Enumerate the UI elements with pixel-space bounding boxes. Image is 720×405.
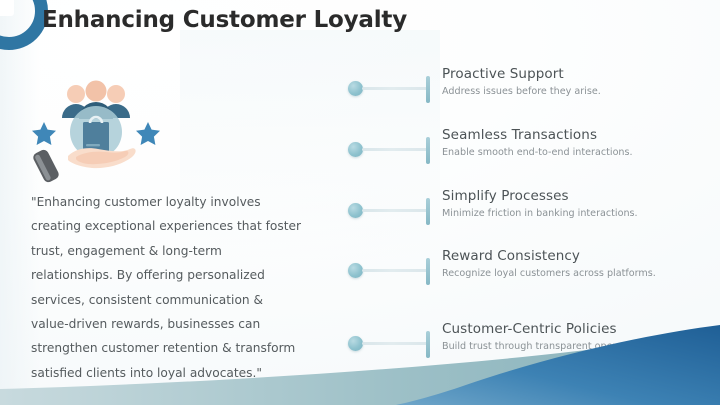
bullet-dot-icon [348, 203, 363, 218]
hand-icon [68, 148, 136, 168]
connector-graphic [345, 259, 435, 289]
loyalty-illustration [26, 78, 166, 183]
sleeve-cuff [32, 148, 61, 183]
list-item-reward-consistency[interactable]: Reward Consistency Recognize loyal custo… [345, 259, 720, 315]
list-item-title: Seamless Transactions [442, 126, 720, 144]
connector-bar [426, 137, 430, 164]
connector-graphic [345, 77, 435, 107]
list-item-desc: Minimize friction in banking interaction… [442, 206, 720, 221]
list-item-text: Simplify Processes Minimize friction in … [442, 187, 720, 221]
loyalty-illustration-svg [26, 78, 166, 183]
list-item-text: Reward Consistency Recognize loyal custo… [442, 247, 720, 281]
list-item-desc: Recognize loyal customers across platfor… [442, 266, 720, 281]
bullet-dot-icon [348, 81, 363, 96]
list-item-text: Seamless Transactions Enable smooth end-… [442, 126, 720, 160]
connector-line [362, 87, 428, 90]
list-item-desc: Enable smooth end-to-end interactions. [442, 145, 720, 160]
corner-arc-mask [0, 0, 14, 16]
bottom-wave-decoration [0, 325, 720, 405]
connector-graphic [345, 138, 435, 168]
connector-line [362, 269, 428, 272]
connector-bar [426, 258, 430, 285]
connector-graphic [345, 199, 435, 229]
connector-bar [426, 76, 430, 103]
bullet-dot-icon [348, 142, 363, 157]
shopping-bag-icon [83, 117, 109, 152]
list-item-title: Reward Consistency [442, 247, 720, 265]
connector-bar [426, 198, 430, 225]
list-item-desc: Address issues before they arise. [442, 84, 720, 99]
list-item-title: Simplify Processes [442, 187, 720, 205]
list-item-text: Proactive Support Address issues before … [442, 65, 720, 99]
list-item-proactive-support[interactable]: Proactive Support Address issues before … [345, 77, 720, 133]
slide-canvas: Enhancing Customer Loyalty [0, 0, 720, 405]
bullet-dot-icon [348, 263, 363, 278]
connector-line [362, 209, 428, 212]
list-item-seamless-transactions[interactable]: Seamless Transactions Enable smooth end-… [345, 138, 720, 194]
star-icon-left [32, 122, 56, 145]
star-icon-right [136, 122, 160, 145]
connector-line [362, 148, 428, 151]
list-item-title: Proactive Support [442, 65, 720, 83]
